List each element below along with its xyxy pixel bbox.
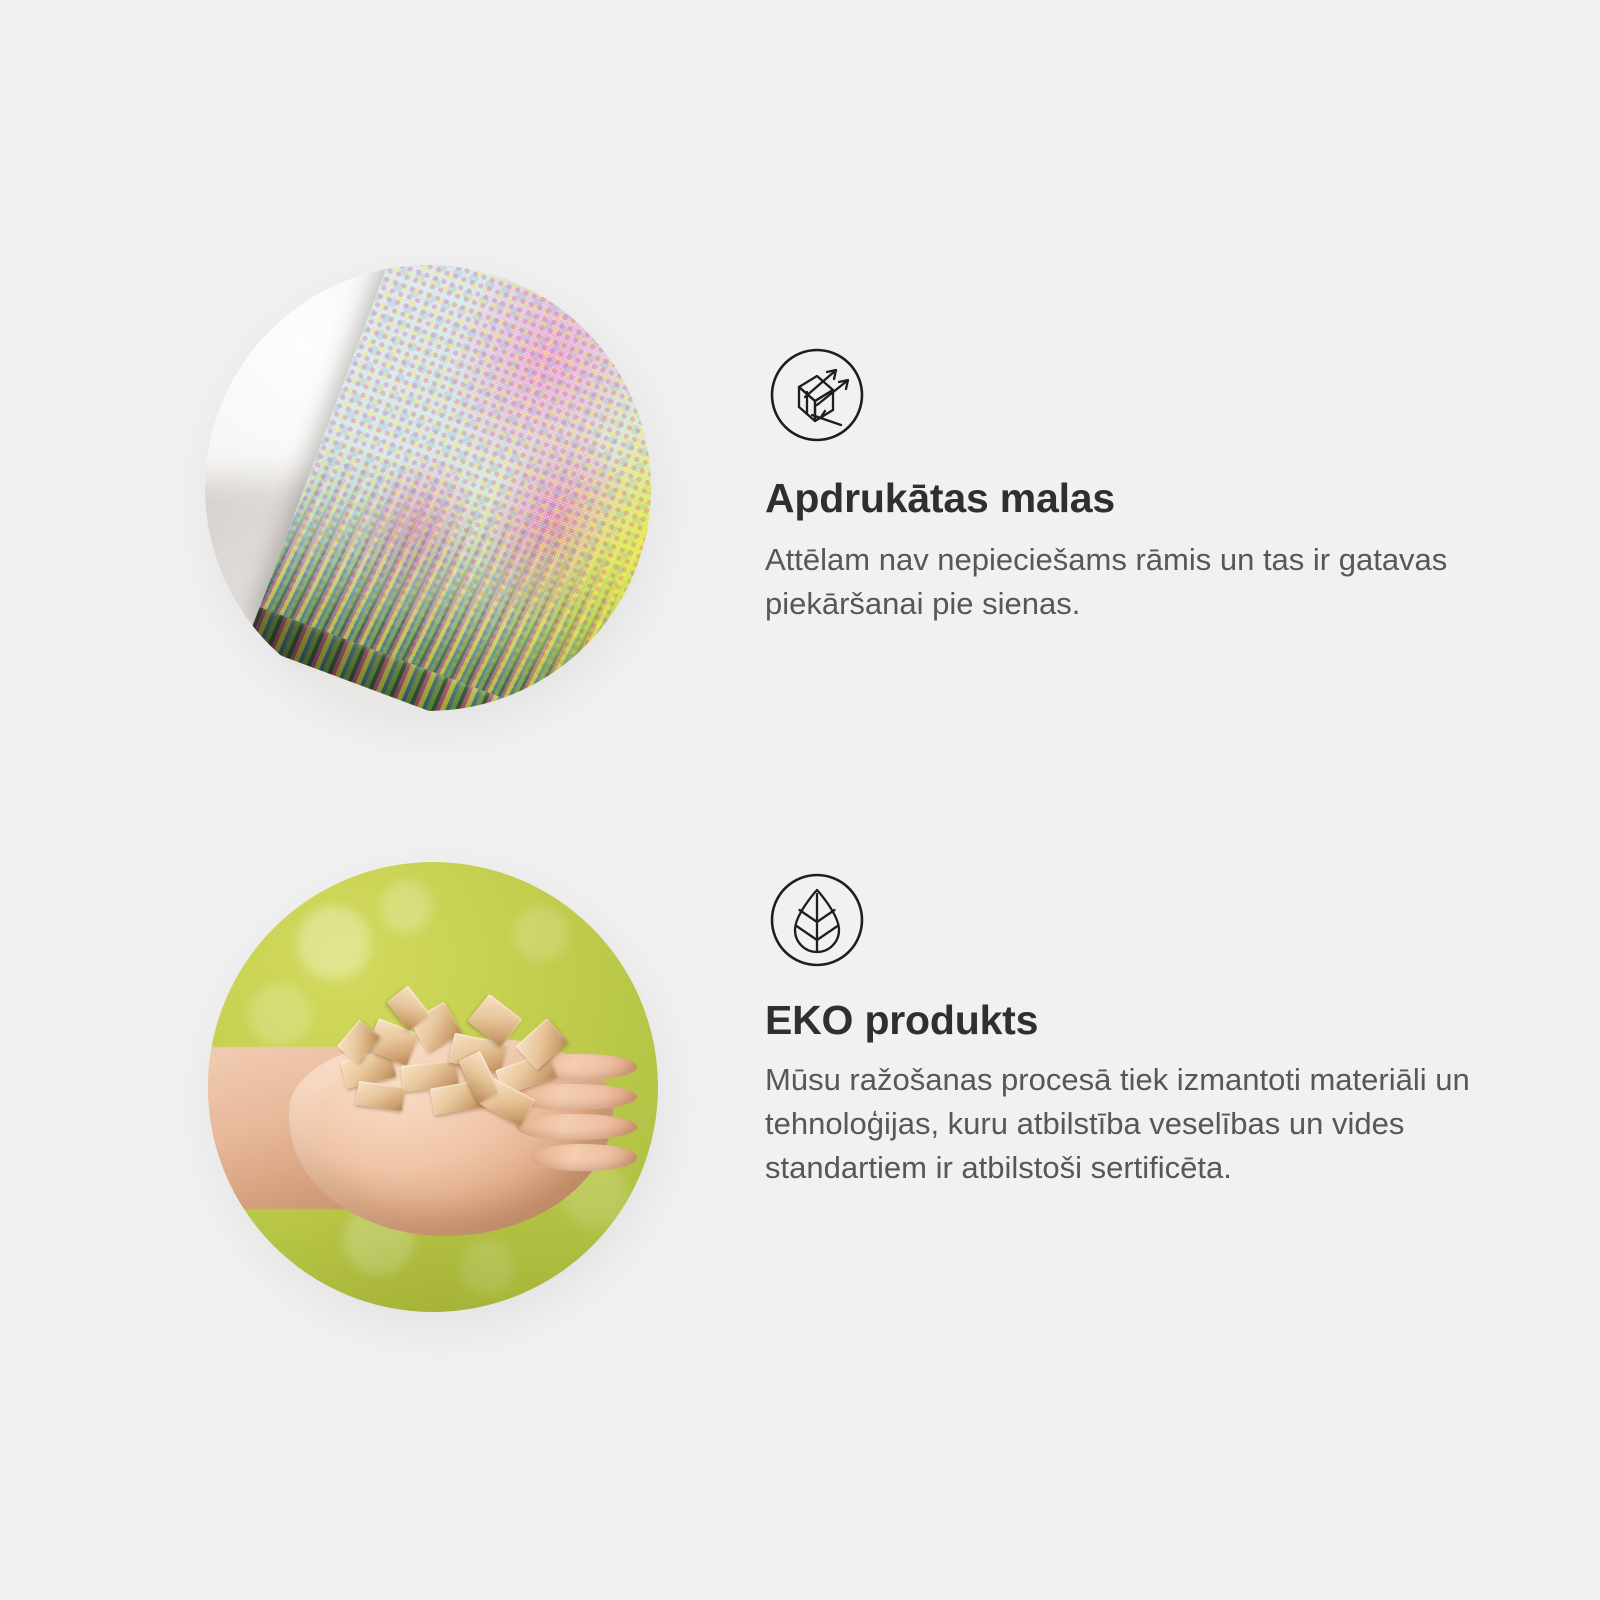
feature-text-block: EKO produkts Mūsu ražošanas procesā tiek…: [765, 868, 1485, 1190]
hand-with-wood-chips-photo: [208, 862, 658, 1312]
canvas-print-corner-photo: [205, 265, 651, 711]
canvas-scene: [205, 265, 651, 711]
feature-eco-product: EKO produkts Mūsu ražošanas procesā tiek…: [0, 850, 1600, 1325]
finger: [532, 1144, 637, 1170]
leaf-icon: [765, 868, 869, 972]
wood-chip: [356, 1081, 406, 1112]
photo-circle-mask: [205, 265, 651, 711]
product-features-page: Apdrukātas malas Attēlam nav nepieciešam…: [0, 0, 1600, 1600]
feature-title: EKO produkts: [765, 996, 1485, 1044]
printed-edges-icon: [765, 343, 869, 447]
wood-chips-pile: [339, 993, 573, 1128]
feature-title: Apdrukātas malas: [765, 474, 1485, 522]
feature-description: Attēlam nav nepieciešams rāmis un tas ir…: [765, 538, 1481, 626]
feature-description: Mūsu ražošanas procesā tiek izmantoti ma…: [765, 1058, 1477, 1190]
photo-circle-mask: [208, 862, 658, 1312]
feature-printed-edges: Apdrukātas malas Attēlam nav nepieciešam…: [0, 255, 1600, 725]
canvas-print-object: [259, 265, 651, 711]
feature-text-block: Apdrukātas malas Attēlam nav nepieciešam…: [765, 343, 1485, 626]
eco-scene: [208, 862, 658, 1312]
